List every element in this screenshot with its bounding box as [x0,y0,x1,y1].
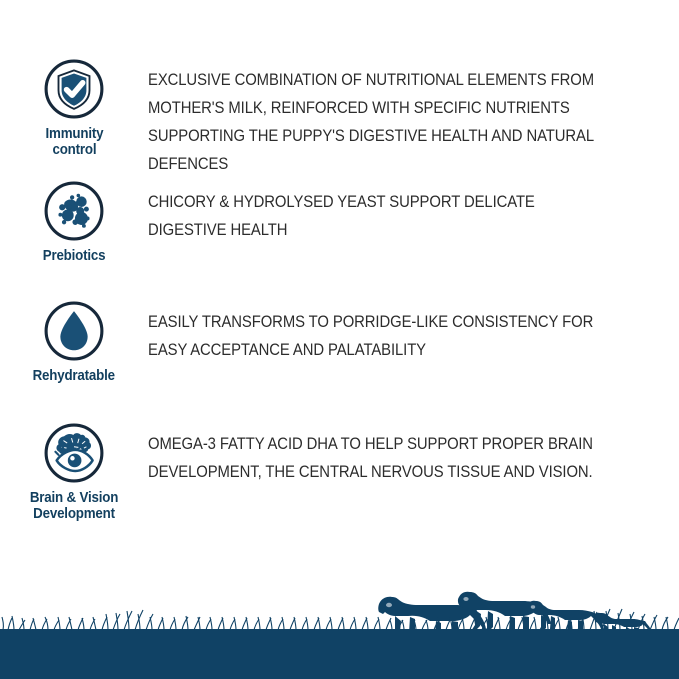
icon-label-immunity: Immunity control [45,127,103,158]
feature-text-prebiotics: CHICORY & HYDROLYSED YEAST SUPPORT DELIC… [148,188,613,244]
brain-eye-icon [43,422,105,484]
icon-label-prebiotics: Prebiotics [43,249,106,265]
icon-column-brain-vision: Brain & Vision Development [0,416,148,522]
shield-check-icon [43,58,105,120]
feature-row-rehydratable: Rehydratable EASILY TRANSFORMS TO PORRID… [0,294,679,416]
benefits-infographic: Immunity control EXCLUSIVE COMBINATION O… [0,0,679,679]
prebiotics-molecule-icon [43,180,105,242]
icon-label-rehydratable: Rehydratable [33,369,115,385]
feature-text-brain-vision: OMEGA-3 FATTY ACID DHA TO HELP SUPPORT P… [148,430,613,486]
dog-silhouette-meadow [0,559,679,679]
feature-row-prebiotics: Prebiotics CHICORY & HYDROLYSED YEAST SU… [0,174,679,294]
text-column-immunity: EXCLUSIVE COMBINATION OF NUTRITIONAL ELE… [148,52,679,178]
icon-label-brain-vision: Brain & Vision Development [30,491,118,522]
text-column-brain-vision: OMEGA-3 FATTY ACID DHA TO HELP SUPPORT P… [148,416,679,486]
water-droplet-icon [43,300,105,362]
icon-column-rehydratable: Rehydratable [0,294,148,385]
feature-text-rehydratable: EASILY TRANSFORMS TO PORRIDGE-LIKE CONSI… [148,308,613,364]
text-column-rehydratable: EASILY TRANSFORMS TO PORRIDGE-LIKE CONSI… [148,294,679,364]
text-column-prebiotics: CHICORY & HYDROLYSED YEAST SUPPORT DELIC… [148,174,679,244]
feature-list: Immunity control EXCLUSIVE COMBINATION O… [0,52,679,538]
icon-column-prebiotics: Prebiotics [0,174,148,265]
icon-column-immunity: Immunity control [0,52,148,158]
feature-text-immunity: EXCLUSIVE COMBINATION OF NUTRITIONAL ELE… [148,66,613,178]
feature-row-immunity: Immunity control EXCLUSIVE COMBINATION O… [0,52,679,174]
feature-row-brain-vision: Brain & Vision Development OMEGA-3 FATTY… [0,416,679,538]
